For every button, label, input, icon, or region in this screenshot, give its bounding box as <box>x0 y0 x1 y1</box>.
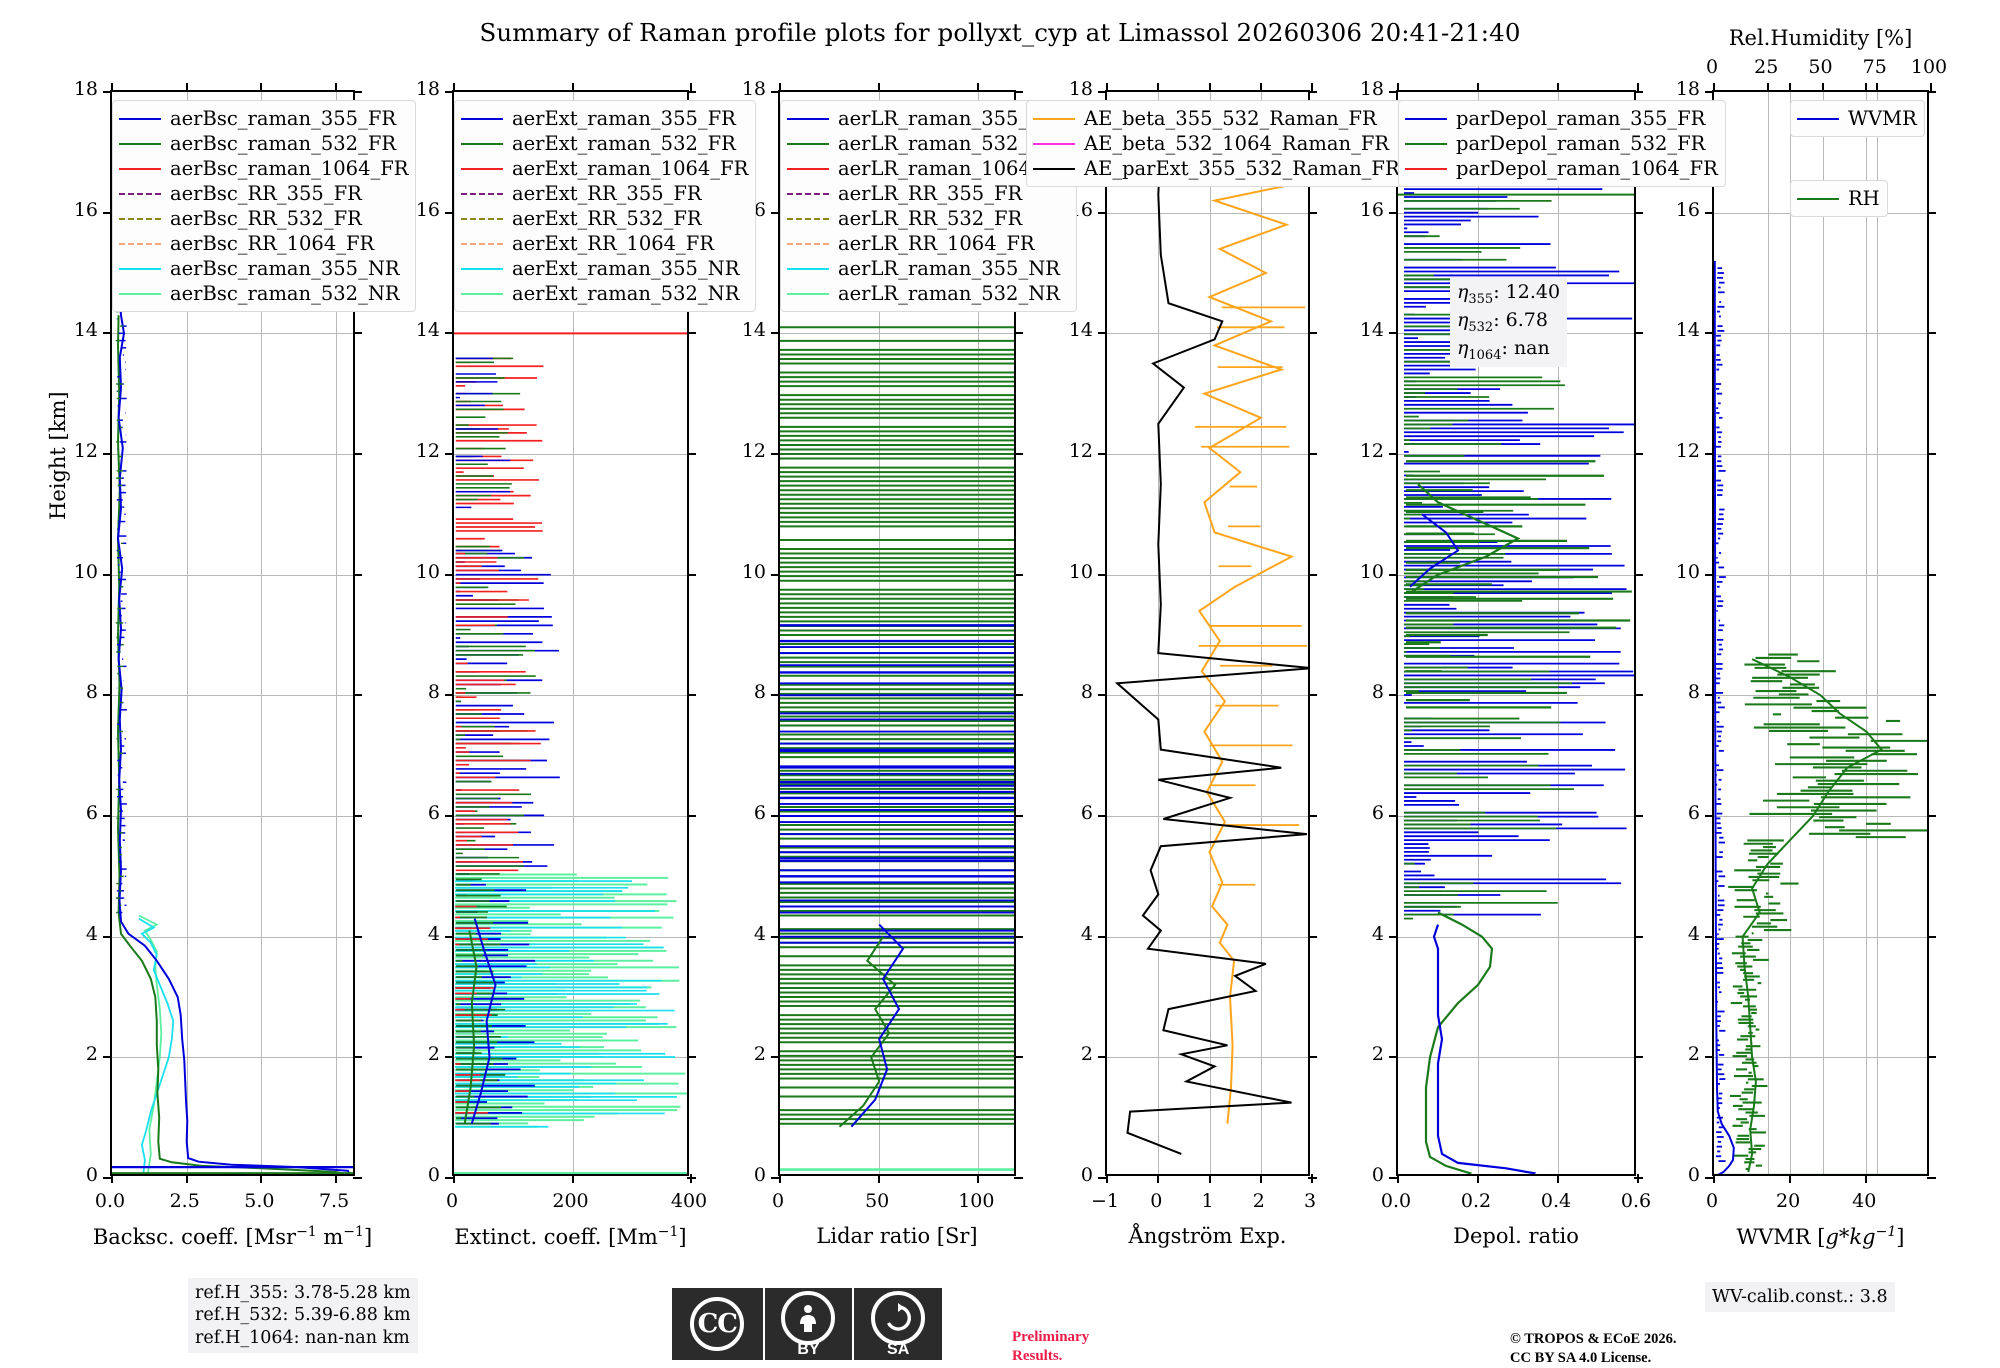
plot-area-wvmr-rh <box>1714 92 1927 1174</box>
y-tick <box>1927 453 1936 455</box>
y-tick-label: 0 <box>1047 1164 1093 1186</box>
x-tick <box>111 1174 113 1183</box>
y-tick-label: 16 <box>1338 199 1384 221</box>
y-tick <box>1705 453 1714 455</box>
trace-line <box>1743 659 1882 1172</box>
y-tick <box>687 453 696 455</box>
x-tick <box>1557 83 1559 92</box>
y-tick-label: 0 <box>394 1164 440 1186</box>
x-tick <box>1106 1174 1108 1183</box>
y-tick <box>445 212 454 214</box>
share-alike-icon-svg <box>883 1303 913 1333</box>
y-tick-label: 10 <box>1654 561 1700 583</box>
x-tick <box>977 83 979 92</box>
y-tick <box>353 694 362 696</box>
y-tick <box>771 212 780 214</box>
trace-line <box>1117 140 1308 1154</box>
legend-item[interactable]: aerLR_RR_532_FR <box>787 206 1069 231</box>
y-tick <box>1705 1056 1714 1058</box>
y-tick <box>1389 453 1398 455</box>
y-tick-label: 0 <box>720 1164 766 1186</box>
y-tick-label: 18 <box>394 78 440 100</box>
y-tick <box>1927 574 1936 576</box>
x-tick <box>335 1174 337 1183</box>
cc-by-segment: BY <box>763 1288 853 1360</box>
legend-label: RH <box>1848 189 1880 209</box>
y-tick-label: 14 <box>52 319 98 341</box>
top-x-tick-label: 25 <box>1736 56 1796 78</box>
legend-label: parDepol_raman_1064_FR <box>1456 159 1718 179</box>
top-x-tick <box>1713 83 1715 92</box>
y-tick <box>103 453 112 455</box>
y-tick <box>445 332 454 334</box>
y-tick-label: 2 <box>394 1043 440 1065</box>
legend-item[interactable]: aerLR_raman_355_NR <box>787 256 1069 281</box>
legend-item[interactable]: aerExt_RR_355_FR <box>461 181 748 206</box>
legend-label: aerBsc_RR_355_FR <box>170 184 362 204</box>
legend-item[interactable]: aerBsc_raman_532_NR <box>119 281 408 306</box>
legend-swatch-AE_beta_532_1064_Raman_FR <box>1033 143 1075 145</box>
share-alike-icon <box>871 1291 925 1345</box>
y-tick <box>103 936 112 938</box>
legend-item[interactable]: aerBsc_raman_532_FR <box>119 131 408 156</box>
y-tick-label: 14 <box>1047 319 1093 341</box>
y-tick-label: 12 <box>394 440 440 462</box>
y-tick <box>1098 1056 1107 1058</box>
y-tick <box>1927 815 1936 817</box>
legend-angstrom[interactable]: AE_beta_355_532_Raman_FRAE_beta_532_1064… <box>1026 100 1408 187</box>
legend-item[interactable]: aerExt_RR_1064_FR <box>461 231 748 256</box>
y-tick-label: 6 <box>52 802 98 824</box>
legend-item[interactable]: aerExt_raman_355_FR <box>461 106 748 131</box>
y-tick-label: 8 <box>720 681 766 703</box>
y-tick <box>1389 815 1398 817</box>
y-tick <box>103 815 112 817</box>
y-tick <box>1389 694 1398 696</box>
x-tick-label: 0.4 <box>1521 1190 1591 1212</box>
legend-swatch-aerBsc_raman_355_FR <box>119 118 161 120</box>
legend-item[interactable]: aerExt_RR_532_FR <box>461 206 748 231</box>
x-tick <box>1157 1174 1159 1183</box>
eta-1064-row: η1064: nan <box>1457 336 1560 364</box>
x-tick <box>1865 1174 1867 1183</box>
x-tick-label: 3 <box>1275 1190 1345 1212</box>
trace-line <box>1426 913 1492 1175</box>
legend-item[interactable]: parDepol_raman_532_FR <box>1405 131 1718 156</box>
x-tick <box>1713 1174 1715 1183</box>
legend-item[interactable]: aerBsc_RR_1064_FR <box>119 231 408 256</box>
top-x-tick <box>1822 83 1824 92</box>
legend-swatch-aerExt_raman_532_FR <box>461 143 503 145</box>
y-tick-label: 10 <box>394 561 440 583</box>
legend-item[interactable]: aerExt_raman_355_NR <box>461 256 748 281</box>
x-tick-label: 0 <box>1677 1190 1747 1212</box>
legend-swatch-aerLR_RR_532_FR <box>787 218 829 220</box>
legend-swatch-aerBsc_RR_532_FR <box>119 218 161 220</box>
ref-h-1064: ref.H_1064: nan-nan km <box>195 1327 411 1349</box>
legend-label: aerExt_RR_532_FR <box>512 209 702 229</box>
y-tick-label: 10 <box>52 561 98 583</box>
y-tick-label: 12 <box>1338 440 1384 462</box>
trace-line <box>118 300 350 1174</box>
y-tick <box>771 936 780 938</box>
legend-label: parDepol_raman_532_FR <box>1456 134 1705 154</box>
y-tick-label: 18 <box>1047 78 1093 100</box>
x-tick <box>690 83 692 92</box>
x-tick-label: 200 <box>536 1190 606 1212</box>
wv-calib-box: WV-calib.const.: 3.8 <box>1705 1282 1895 1312</box>
y-tick <box>445 1056 454 1058</box>
x-tick <box>878 83 880 92</box>
y-tick-label: 4 <box>1047 923 1093 945</box>
legend-swatch-aerLR_RR_355_FR <box>787 193 829 195</box>
y-tick <box>353 332 362 334</box>
legend-swatch-parDepol_raman_355_FR <box>1405 118 1447 120</box>
legend-label: aerExt_raman_532_NR <box>512 284 739 304</box>
legend-label: aerBsc_raman_1064_FR <box>170 159 408 179</box>
legend-item[interactable]: parDepol_raman_1064_FR <box>1405 156 1718 181</box>
legend-swatch-parDepol_raman_532_FR <box>1405 143 1447 145</box>
y-tick-label: 6 <box>1047 802 1093 824</box>
preliminary-line-1: Preliminary <box>1012 1328 1089 1347</box>
legend-item[interactable]: aerLR_raman_532_NR <box>787 281 1069 306</box>
legend-item[interactable]: aerBsc_raman_355_FR <box>119 106 408 131</box>
cc-license-badge: CC BY SA <box>672 1288 942 1360</box>
plot-traces <box>1714 92 1927 1174</box>
legend-item[interactable]: AE_parExt_355_532_Raman_FR <box>1033 156 1400 181</box>
plot-traces <box>1398 92 1634 1174</box>
legend-swatch-aerExt_RR_355_FR <box>461 193 503 195</box>
eta-532-row: η532: 6.78 <box>1457 308 1560 336</box>
y-tick <box>445 453 454 455</box>
legend-swatch-RH <box>1797 198 1839 200</box>
legend-swatch-aerLR_raman_532_NR <box>787 293 829 295</box>
legend-label: WVMR <box>1848 109 1917 129</box>
legend-swatch-aerLR_raman_532_FR <box>787 143 829 145</box>
y-tick-label: 2 <box>720 1043 766 1065</box>
y-tick <box>1927 936 1936 938</box>
y-tick <box>1308 694 1317 696</box>
x-tick <box>1637 1174 1639 1183</box>
y-tick <box>1705 574 1714 576</box>
y-tick-label: 2 <box>52 1043 98 1065</box>
y-tick-label: 10 <box>1338 561 1384 583</box>
legend-label: aerBsc_raman_532_FR <box>170 134 396 154</box>
y-tick <box>1927 332 1936 334</box>
y-tick <box>1014 453 1023 455</box>
x-tick <box>1789 1174 1791 1183</box>
top-x-tick <box>1876 83 1878 92</box>
ref-h-355: ref.H_355: 3.78-5.28 km <box>195 1282 411 1304</box>
legend-item[interactable]: aerBsc_raman_355_NR <box>119 256 408 281</box>
y-tick <box>1634 212 1643 214</box>
y-tick <box>1098 815 1107 817</box>
y-tick-label: 16 <box>1654 199 1700 221</box>
x-tick <box>1557 1174 1559 1183</box>
y-tick <box>687 936 696 938</box>
y-tick-label: 12 <box>1047 440 1093 462</box>
y-tick <box>1308 453 1317 455</box>
plot-panel-wvmr-rh <box>1712 90 1929 1176</box>
plot-panel-angstrom <box>1105 90 1310 1176</box>
x-tick-label: 0 <box>743 1190 813 1212</box>
y-tick <box>687 1056 696 1058</box>
y-tick <box>1389 212 1398 214</box>
y-tick-label: 4 <box>394 923 440 945</box>
y-tick <box>445 815 454 817</box>
x-tick <box>1209 83 1211 92</box>
y-tick <box>1014 91 1023 93</box>
y-tick <box>1389 332 1398 334</box>
y-tick <box>1927 1177 1936 1179</box>
legend-item[interactable]: AE_beta_532_1064_Raman_FR <box>1033 131 1400 156</box>
y-tick-label: 8 <box>1338 681 1384 703</box>
legend-label: AE_beta_355_532_Raman_FR <box>1084 109 1377 129</box>
top-x-tick-label: 100 <box>1899 56 1959 78</box>
eta-355-row: η355: 12.40 <box>1457 280 1560 308</box>
y-tick <box>1634 453 1643 455</box>
cc-sa-label: SA <box>854 1341 942 1359</box>
plot-area-depolarization <box>1398 92 1634 1174</box>
legend-swatch-aerBsc_RR_355_FR <box>119 193 161 195</box>
legend-item[interactable]: aerBsc_RR_355_FR <box>119 181 408 206</box>
legend-swatch-aerBsc_raman_532_NR <box>119 293 161 295</box>
y-tick <box>1098 936 1107 938</box>
y-tick <box>771 332 780 334</box>
y-tick <box>687 574 696 576</box>
y-tick <box>1308 212 1317 214</box>
y-tick <box>771 1056 780 1058</box>
y-tick <box>1098 574 1107 576</box>
legend-label: aerLR_raman_532_NR <box>838 284 1060 304</box>
legend-swatch-aerLR_raman_355_FR <box>787 118 829 120</box>
legend-swatch-aerExt_raman_355_FR <box>461 118 503 120</box>
x-tick-label: 20 <box>1753 1190 1823 1212</box>
x-axis-title-lidar-ratio: Lidar ratio [Sr] <box>708 1224 1086 1248</box>
y-tick-label: 2 <box>1047 1043 1093 1065</box>
cc-icon: CC <box>690 1297 744 1351</box>
legend-item[interactable]: aerBsc_raman_1064_FR <box>119 156 408 181</box>
y-tick <box>771 694 780 696</box>
eta-1064-sub: 1064 <box>1468 348 1501 363</box>
y-tick-label: 6 <box>720 802 766 824</box>
y-tick <box>1927 1056 1936 1058</box>
x-tick <box>779 1174 781 1183</box>
x-tick-label: 0.6 <box>1601 1190 1671 1212</box>
y-tick <box>1634 1056 1643 1058</box>
x-axis-title-backscatter: Backsc. coeff. [Msr−1 m−1] <box>40 1224 425 1249</box>
y-tick-label: 18 <box>1338 78 1384 100</box>
legend-label: aerBsc_RR_532_FR <box>170 209 362 229</box>
legend-swatch-aerBsc_RR_1064_FR <box>119 243 161 245</box>
legend-label: parDepol_raman_355_FR <box>1456 109 1705 129</box>
legend-label: aerExt_RR_1064_FR <box>512 234 714 254</box>
y-tick <box>1705 694 1714 696</box>
top-x-tick <box>1767 83 1769 92</box>
y-tick-label: 2 <box>1654 1043 1700 1065</box>
y-tick <box>1927 694 1936 696</box>
y-tick <box>1308 574 1317 576</box>
x-tick-label: 0 <box>417 1190 487 1212</box>
y-tick <box>1308 332 1317 334</box>
x-tick <box>453 83 455 92</box>
x-tick <box>260 1174 262 1183</box>
y-tick <box>1098 212 1107 214</box>
legend-swatch-AE_parExt_355_532_Raman_FR <box>1033 168 1075 170</box>
x-tick <box>1311 1174 1313 1183</box>
legend-label: AE_parExt_355_532_Raman_FR <box>1084 159 1400 179</box>
x-tick-label: 0.0 <box>1361 1190 1431 1212</box>
legend-label: aerLR_raman_532_FR <box>838 134 1056 154</box>
legend-item[interactable]: RH <box>1797 186 1880 211</box>
x-tick <box>260 83 262 92</box>
legend-item[interactable]: aerExt_raman_532_FR <box>461 131 748 156</box>
y-tick-label: 0 <box>52 1164 98 1186</box>
x-tick <box>1260 83 1262 92</box>
legend-item[interactable]: aerExt_raman_532_NR <box>461 281 748 306</box>
legend-item[interactable]: aerBsc_RR_532_FR <box>119 206 408 231</box>
y-tick-label: 12 <box>52 440 98 462</box>
y-tick <box>445 574 454 576</box>
y-tick-label: 18 <box>720 78 766 100</box>
y-tick-label: 4 <box>1654 923 1700 945</box>
top-x-tick-label: 0 <box>1682 56 1742 78</box>
x-tick <box>572 83 574 92</box>
y-tick-label: 0 <box>1654 1164 1700 1186</box>
cc-by-label: BY <box>765 1341 853 1359</box>
y-tick <box>1308 1056 1317 1058</box>
cc-sa-segment: SA <box>852 1288 942 1360</box>
legend-swatch-aerLR_raman_1064_FR <box>787 168 829 170</box>
legend-label: aerExt_raman_355_FR <box>512 109 736 129</box>
legend-label: aerExt_raman_355_NR <box>512 259 739 279</box>
y-tick <box>1634 936 1643 938</box>
ref-height-box: ref.H_355: 3.78-5.28 km ref.H_532: 5.39-… <box>188 1278 418 1353</box>
legend-label: aerLR_RR_355_FR <box>838 184 1022 204</box>
top-x-tick-label: 50 <box>1791 56 1851 78</box>
trace-line <box>118 315 348 1174</box>
x-tick <box>1397 83 1399 92</box>
y-tick <box>687 694 696 696</box>
y-tick <box>1098 694 1107 696</box>
eta-355-sub: 355 <box>1468 292 1493 307</box>
y-tick <box>1705 815 1714 817</box>
y-tick <box>1927 212 1936 214</box>
legend-wvmr-rh-rh[interactable]: RH <box>1790 180 1888 217</box>
y-tick-label: 10 <box>1047 561 1093 583</box>
copyright-note: © TROPOS & ECoE 2026. CC BY SA 4.0 Licen… <box>1510 1330 1676 1368</box>
trace-line <box>1715 261 1734 1174</box>
eta-532-sub: 532 <box>1468 320 1493 335</box>
eta-annotation-box: η355: 12.40 η532: 6.78 η1064: nan <box>1450 277 1567 367</box>
top-axis-title: Rel.Humidity [%] <box>1672 26 1969 50</box>
wv-calib-value: WV-calib.const.: 3.8 <box>1712 1286 1888 1308</box>
y-tick-label: 14 <box>1654 319 1700 341</box>
x-tick-label: 400 <box>654 1190 724 1212</box>
legend-label: aerBsc_raman_532_NR <box>170 284 400 304</box>
y-tick-label: 18 <box>52 78 98 100</box>
y-tick <box>687 815 696 817</box>
y-tick <box>1308 815 1317 817</box>
trace-line <box>1434 925 1534 1174</box>
eta-1064-value: nan <box>1514 337 1550 359</box>
y-tick <box>1705 936 1714 938</box>
y-tick <box>1014 694 1023 696</box>
legend-item[interactable]: parDepol_raman_355_FR <box>1405 106 1718 131</box>
legend-depolarization[interactable]: parDepol_raman_355_FRparDepol_raman_532_… <box>1398 100 1726 187</box>
y-tick-label: 4 <box>720 923 766 945</box>
y-tick <box>1098 332 1107 334</box>
x-tick <box>1106 83 1108 92</box>
x-tick-label: 7.5 <box>299 1190 369 1212</box>
legend-label: aerExt_raman_1064_FR <box>512 159 748 179</box>
y-tick <box>1014 574 1023 576</box>
legend-swatch-aerExt_raman_1064_FR <box>461 168 503 170</box>
legend-swatch-aerLR_raman_355_NR <box>787 268 829 270</box>
legend-label: AE_beta_532_1064_Raman_FR <box>1084 134 1389 154</box>
legend-swatch-aerBsc_raman_1064_FR <box>119 168 161 170</box>
legend-wvmr-rh-wvmr[interactable]: WVMR <box>1790 100 1925 137</box>
legend-label: aerLR_RR_532_FR <box>838 209 1022 229</box>
x-tick <box>1311 83 1313 92</box>
x-tick <box>335 83 337 92</box>
y-tick-label: 4 <box>52 923 98 945</box>
x-tick-label: 100 <box>941 1190 1011 1212</box>
y-tick <box>103 332 112 334</box>
legend-swatch-WVMR <box>1797 118 1839 120</box>
plot-area-angstrom <box>1107 92 1308 1174</box>
eta-355-value: 12.40 <box>1506 281 1560 303</box>
y-tick <box>353 574 362 576</box>
x-tick <box>186 83 188 92</box>
y-tick <box>353 1056 362 1058</box>
y-tick-label: 4 <box>1338 923 1384 945</box>
y-tick-label: 8 <box>1047 681 1093 703</box>
legend-label: aerBsc_RR_1064_FR <box>170 234 374 254</box>
y-tick-label: 8 <box>394 681 440 703</box>
copyright-line-1: © TROPOS & ECoE 2026. <box>1510 1330 1676 1349</box>
legend-item[interactable]: aerExt_raman_1064_FR <box>461 156 748 181</box>
ref-h-532: ref.H_532: 5.39-6.88 km <box>195 1304 411 1326</box>
y-tick-label: 14 <box>1338 319 1384 341</box>
x-tick <box>111 83 113 92</box>
y-tick <box>103 694 112 696</box>
y-tick <box>445 694 454 696</box>
y-tick <box>771 453 780 455</box>
legend-item[interactable]: AE_beta_355_532_Raman_FR <box>1033 106 1400 131</box>
legend-swatch-aerExt_RR_532_FR <box>461 218 503 220</box>
legend-label: aerExt_raman_532_FR <box>512 134 736 154</box>
legend-label: aerBsc_raman_355_NR <box>170 259 400 279</box>
top-x-tick-label: 75 <box>1845 56 1905 78</box>
y-tick-label: 12 <box>720 440 766 462</box>
y-tick <box>353 815 362 817</box>
x-tick <box>453 1174 455 1183</box>
legend-swatch-AE_beta_355_532_Raman_FR <box>1033 118 1075 120</box>
y-tick-label: 10 <box>720 561 766 583</box>
person-icon <box>781 1291 835 1345</box>
legend-item[interactable]: WVMR <box>1797 106 1917 131</box>
y-tick-label: 6 <box>394 802 440 824</box>
legend-item[interactable]: aerLR_RR_1064_FR <box>787 231 1069 256</box>
y-tick-label: 14 <box>720 319 766 341</box>
preliminary-line-2: Results. <box>1012 1347 1089 1366</box>
legend-backscatter[interactable]: aerBsc_raman_355_FRaerBsc_raman_532_FRae… <box>112 100 416 312</box>
y-tick <box>771 815 780 817</box>
legend-extinction[interactable]: aerExt_raman_355_FRaerExt_raman_532_FRae… <box>454 100 756 312</box>
x-tick <box>1477 1174 1479 1183</box>
y-tick <box>1389 574 1398 576</box>
